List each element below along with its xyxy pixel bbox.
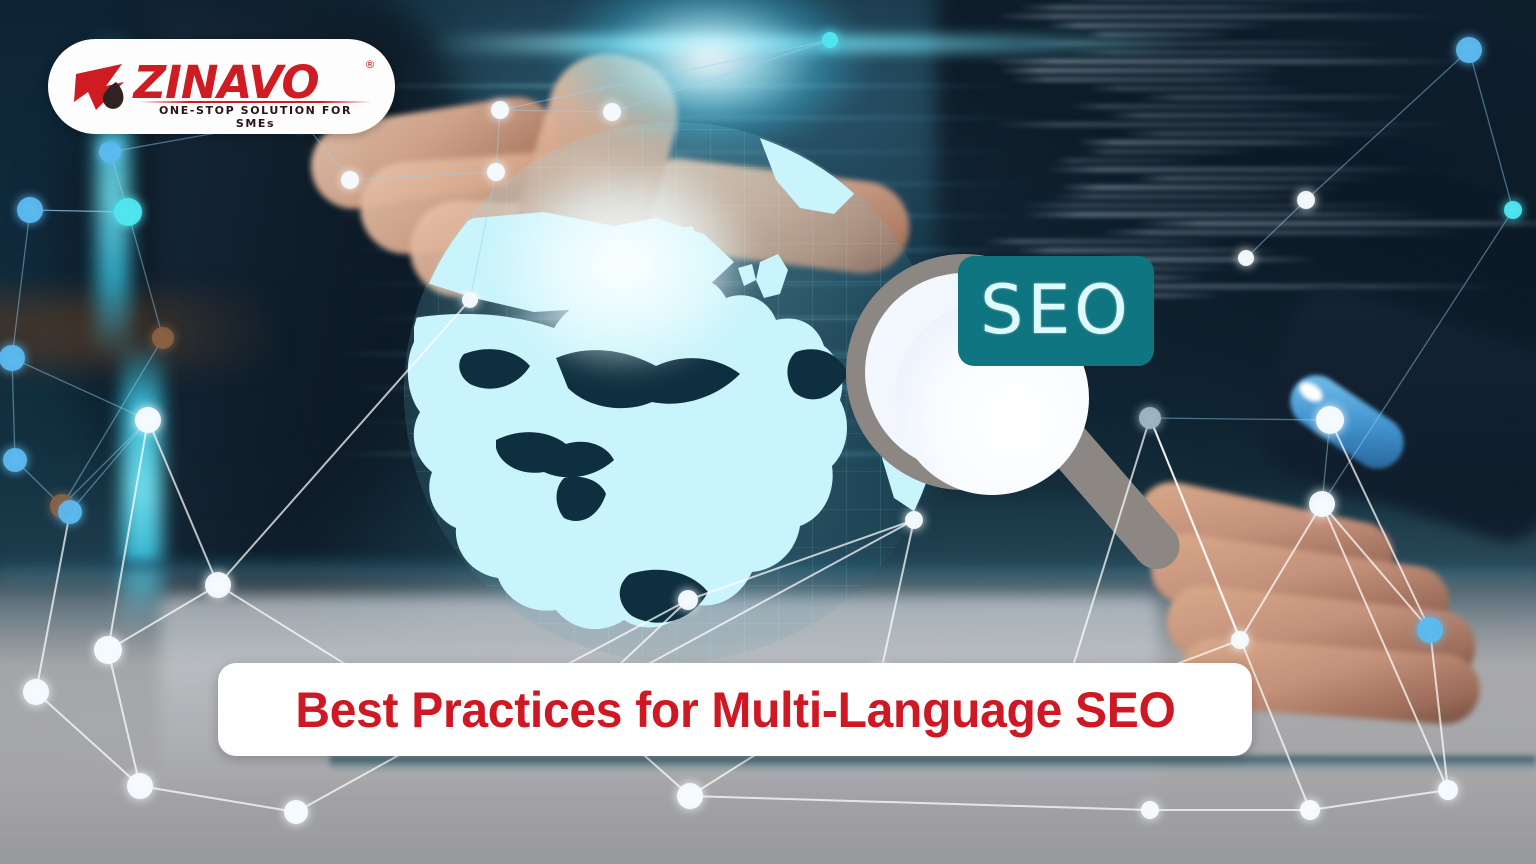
code-line xyxy=(1052,194,1339,199)
seo-badge: SEO xyxy=(958,256,1154,366)
code-line xyxy=(1052,158,1206,163)
globe-cloud-wash xyxy=(464,152,794,402)
code-line xyxy=(1023,212,1434,217)
code-line xyxy=(1058,0,1391,1)
code-line xyxy=(1100,230,1463,235)
zinavo-logo-pill[interactable]: ZINAVO ® ONE-STOP SOLUTION FOR SMEs xyxy=(48,39,395,134)
code-line xyxy=(1059,185,1346,190)
code-line xyxy=(1019,5,1307,10)
code-line xyxy=(1010,77,1289,82)
code-line xyxy=(1046,167,1425,172)
code-line xyxy=(1076,140,1349,145)
code-line xyxy=(993,122,1465,127)
code-line xyxy=(1138,95,1427,100)
banner-root: SEO ZINAVO ® ONE-STOP SOLUTION FOR SMEs … xyxy=(0,0,1536,864)
code-line xyxy=(1084,149,1256,154)
logo-divider xyxy=(138,101,372,103)
code-line xyxy=(1018,203,1420,208)
seo-magnifier-group: SEO xyxy=(838,248,1198,578)
code-line xyxy=(1121,131,1420,136)
code-line xyxy=(988,59,1465,64)
code-line xyxy=(993,14,1447,19)
code-line xyxy=(999,68,1288,73)
zinavo-tagline: ONE-STOP SOLUTION FOR SMEs xyxy=(140,104,372,130)
arrow-droplet-icon xyxy=(72,62,134,112)
registered-mark: ® xyxy=(365,58,376,71)
code-line xyxy=(1133,176,1376,181)
code-line xyxy=(984,239,1227,244)
seo-badge-label: SEO xyxy=(980,277,1132,345)
code-line xyxy=(1087,86,1314,91)
page-title: Best Practices for Multi-Language SEO xyxy=(295,681,1175,739)
code-line xyxy=(1046,23,1274,28)
headline-bar: Best Practices for Multi-Language SEO xyxy=(218,663,1252,756)
code-line xyxy=(1068,104,1314,109)
code-line xyxy=(1135,221,1536,226)
code-line xyxy=(1104,113,1358,118)
